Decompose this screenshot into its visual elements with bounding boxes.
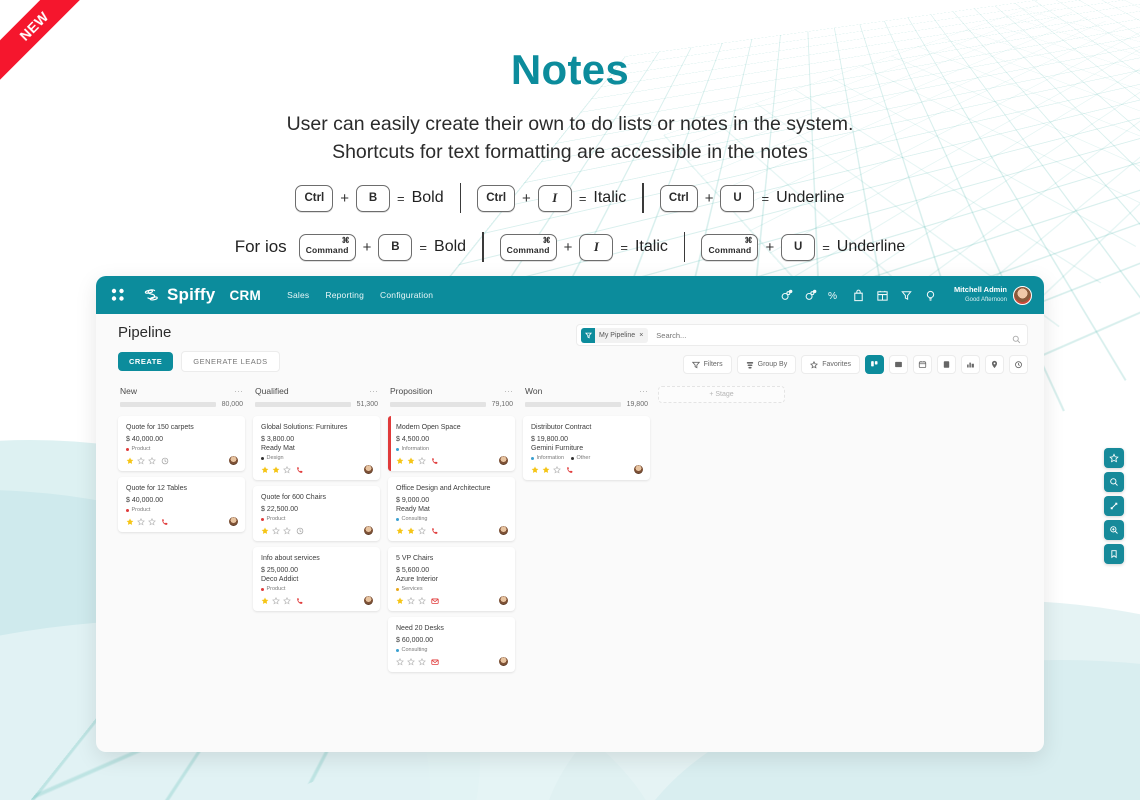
shortcut-divider xyxy=(684,232,686,262)
star-empty-icon[interactable] xyxy=(553,466,561,474)
kanban-card[interactable]: Distributor Contract $ 19,800.00 Gemini … xyxy=(523,416,650,480)
page-title: Notes xyxy=(0,46,1140,94)
zoom-float-icon[interactable] xyxy=(1104,520,1124,540)
plus-sign: + xyxy=(705,190,714,207)
result-underline: Underline xyxy=(776,189,844,207)
plus-sign: + xyxy=(340,190,349,207)
star-empty-icon[interactable] xyxy=(418,658,426,666)
activity-icon[interactable] xyxy=(780,289,793,302)
result-bold: Bold xyxy=(434,238,466,256)
navbar-right: % Mitchell Admin Good Afternoon xyxy=(780,285,1032,305)
view-controls: Filters Group By Favorites xyxy=(576,355,1028,374)
column-settings-icon[interactable]: ⋯ xyxy=(639,388,648,394)
avatar[interactable] xyxy=(229,456,238,465)
tag-dot xyxy=(571,457,574,460)
user-name: Mitchell Admin xyxy=(954,285,1007,294)
plus-sign: + xyxy=(765,239,774,256)
shortcut-underline-windows: Ctrl + U = Underline xyxy=(660,185,845,212)
user-menu[interactable]: Mitchell Admin Good Afternoon xyxy=(954,285,1032,305)
key-u: U xyxy=(781,234,815,261)
card-title: Quote for 12 Tables xyxy=(126,484,238,494)
column-cards: Global Solutions: Furnitures $ 3,800.00 … xyxy=(253,416,380,611)
avatar[interactable] xyxy=(499,657,508,666)
command-symbol: ⌘ xyxy=(543,236,551,245)
spiffy-logo-icon xyxy=(142,286,161,305)
card-tags: Design xyxy=(261,455,373,461)
card-tags: Consulting xyxy=(396,516,508,522)
card-footer xyxy=(396,526,508,535)
tag-label: Product xyxy=(132,507,151,513)
star-filled-icon[interactable] xyxy=(531,466,539,474)
card-customer: Ready Mat xyxy=(261,445,373,452)
plus-sign: + xyxy=(522,190,531,207)
command-label: Command xyxy=(507,245,550,255)
card-tag: Consulting xyxy=(396,516,428,522)
kanban-card[interactable]: Quote for 600 Chairs $ 22,500.00 Product xyxy=(253,486,380,541)
card-amount: $ 5,600.00 xyxy=(396,567,508,574)
subtitle-line-2: Shortcuts for text formatting are access… xyxy=(0,138,1140,166)
card-footer xyxy=(396,657,508,666)
card-tags: Product xyxy=(261,516,373,522)
search-facet-remove[interactable]: × xyxy=(639,332,643,339)
card-tag: Product xyxy=(261,516,285,522)
expand-float-icon[interactable] xyxy=(1104,496,1124,516)
card-tag: Design xyxy=(261,455,284,461)
card-amount: $ 3,800.00 xyxy=(261,436,373,443)
star-filled-icon[interactable] xyxy=(272,466,280,474)
shortcut-underline-ios: ⌘ Command + U = Underline xyxy=(701,234,905,261)
equals-sign: = xyxy=(822,240,830,255)
star-filled-icon[interactable] xyxy=(396,527,404,535)
avatar[interactable] xyxy=(499,456,508,465)
star-empty-icon[interactable] xyxy=(283,527,291,535)
favorites-button[interactable]: Favorites xyxy=(801,355,860,374)
tag-dot xyxy=(261,457,264,460)
column-settings-icon[interactable]: ⋯ xyxy=(369,388,378,394)
shortcut-divider xyxy=(642,183,644,213)
tag-dot xyxy=(531,457,534,460)
search-bar[interactable]: My Pipeline × xyxy=(576,324,1028,346)
tag-dot xyxy=(261,588,264,591)
key-ctrl: Ctrl xyxy=(660,185,698,212)
phone-icon[interactable] xyxy=(296,466,304,474)
card-footer xyxy=(531,465,643,474)
card-footer xyxy=(261,465,373,474)
card-title: 5 VP Chairs xyxy=(396,554,508,564)
card-amount: $ 25,000.00 xyxy=(261,567,373,574)
star-empty-icon[interactable] xyxy=(137,518,145,526)
create-button[interactable]: CREATE xyxy=(118,352,173,371)
card-title: Distributor Contract xyxy=(531,423,643,433)
phone-icon[interactable] xyxy=(161,518,169,526)
ios-label: For ios xyxy=(235,237,287,257)
group-by-button[interactable]: Group By xyxy=(737,355,797,374)
kanban-view-icon[interactable] xyxy=(865,355,884,374)
key-ctrl: Ctrl xyxy=(295,185,333,212)
kanban-board: New ⋯ 80,000 Quote for 150 carpets $ 40,… xyxy=(96,372,1044,672)
tag-label: Consulting xyxy=(402,516,428,522)
star-empty-icon[interactable] xyxy=(272,597,280,605)
kanban-card[interactable]: Quote for 12 Tables $ 40,000.00 Product xyxy=(118,477,245,532)
list-view-icon[interactable] xyxy=(889,355,908,374)
star-filled-icon[interactable] xyxy=(407,527,415,535)
kanban-column-won: Won ⋯ 19,800 Distributor Contract $ 19,8… xyxy=(523,386,650,480)
key-i: I xyxy=(538,185,572,212)
card-tag: Services xyxy=(396,586,423,592)
brand-logo[interactable]: Spiffy xyxy=(142,285,215,305)
star-filled-icon[interactable] xyxy=(126,457,134,465)
kanban-column-proposition: Proposition ⋯ 79,100 Modern Open Space $… xyxy=(388,386,515,672)
tag-dot xyxy=(261,518,264,521)
card-title: Modern Open Space xyxy=(396,423,508,433)
card-footer xyxy=(396,456,508,465)
card-customer: Ready Mat xyxy=(396,506,508,513)
translate-icon[interactable]: % xyxy=(828,289,841,302)
star-empty-icon[interactable] xyxy=(407,658,415,666)
nav-item-sales[interactable]: Sales xyxy=(287,290,309,300)
star-empty-icon[interactable] xyxy=(283,597,291,605)
column-settings-icon[interactable]: ⋯ xyxy=(234,388,243,394)
shortcut-divider xyxy=(482,232,484,262)
card-title: Need 20 Desks xyxy=(396,624,508,634)
tag-label: Product xyxy=(267,516,286,522)
star-filled-icon[interactable] xyxy=(261,527,269,535)
search-facet-label: My Pipeline xyxy=(599,332,635,339)
filter-funnel-icon[interactable] xyxy=(900,289,913,302)
card-tag: Information xyxy=(396,446,429,452)
card-tags: Product xyxy=(261,586,373,592)
column-amount: 80,000 xyxy=(222,401,243,408)
star-empty-icon[interactable] xyxy=(283,466,291,474)
equals-sign: = xyxy=(397,191,405,206)
column-progress-track xyxy=(120,402,216,407)
nav-item-reporting[interactable]: Reporting xyxy=(325,290,364,300)
key-b: B xyxy=(378,234,412,261)
kanban-card[interactable]: Info about services $ 25,000.00 Deco Add… xyxy=(253,547,380,611)
star-empty-icon[interactable] xyxy=(272,527,280,535)
tag-dot xyxy=(126,509,129,512)
equals-sign: = xyxy=(579,191,587,206)
filters-button[interactable]: Filters xyxy=(683,355,732,374)
star-filled-icon[interactable] xyxy=(126,518,134,526)
avatar[interactable] xyxy=(364,465,373,474)
star-float-icon[interactable] xyxy=(1104,448,1124,468)
column-amount: 51,300 xyxy=(357,401,378,408)
card-tags: Services xyxy=(396,586,508,592)
control-bar: Pipeline CREATE GENERATE LEADS My Pipeli… xyxy=(96,314,1044,372)
plus-sign: + xyxy=(564,239,573,256)
activity-view-icon[interactable] xyxy=(1009,355,1028,374)
phone-icon[interactable] xyxy=(431,527,439,535)
filter-icon xyxy=(692,361,700,369)
navbar-menu: Sales Reporting Configuration xyxy=(287,290,433,300)
search-facet-my-pipeline[interactable]: My Pipeline × xyxy=(581,328,648,343)
column-name: Qualified xyxy=(255,386,289,396)
svg-text:%: % xyxy=(828,291,837,302)
card-tags: Consulting xyxy=(396,647,508,653)
star-empty-icon[interactable] xyxy=(396,658,404,666)
column-progress-track xyxy=(525,402,621,407)
card-customer: Gemini Furniture xyxy=(531,445,643,452)
tag-dot xyxy=(126,448,129,451)
equals-sign: = xyxy=(620,240,628,255)
command-symbol: ⌘ xyxy=(744,236,752,245)
card-footer xyxy=(261,596,373,605)
generate-leads-button[interactable]: GENERATE LEADS xyxy=(181,351,279,372)
clock-icon[interactable] xyxy=(296,527,304,535)
card-tags: Information xyxy=(396,446,508,452)
result-bold: Bold xyxy=(412,189,444,207)
group-icon xyxy=(746,361,754,369)
kanban-card[interactable]: Global Solutions: Furnitures $ 3,800.00 … xyxy=(253,416,380,480)
card-tags: Product xyxy=(126,446,238,452)
search-input[interactable] xyxy=(656,331,1012,340)
calendar-view-icon[interactable] xyxy=(913,355,932,374)
equals-sign: = xyxy=(761,191,769,206)
avatar[interactable] xyxy=(499,526,508,535)
column-header: Won ⋯ 19,800 xyxy=(523,386,650,408)
equals-sign: = xyxy=(419,240,427,255)
kanban-card[interactable]: 5 VP Chairs $ 5,600.00 Azure Interior Se… xyxy=(388,547,515,611)
star-filled-icon[interactable] xyxy=(396,597,404,605)
kanban-column-new: New ⋯ 80,000 Quote for 150 carpets $ 40,… xyxy=(118,386,245,532)
search-area: My Pipeline × Filters Group By xyxy=(576,324,1028,374)
filter-icon xyxy=(581,328,595,343)
star-filled-icon[interactable] xyxy=(407,457,415,465)
tag-label: Product xyxy=(267,586,286,592)
card-title: Quote for 600 Chairs xyxy=(261,493,373,503)
card-customer: Azure Interior xyxy=(396,576,508,583)
kanban-card[interactable]: Quote for 150 carpets $ 40,000.00 Produc… xyxy=(118,416,245,471)
shortcut-italic-ios: ⌘ Command + I = Italic xyxy=(500,234,668,261)
mail-icon[interactable] xyxy=(431,658,439,666)
command-symbol: ⌘ xyxy=(342,236,350,245)
mail-icon[interactable] xyxy=(431,597,439,605)
star-empty-icon[interactable] xyxy=(148,518,156,526)
map-view-icon[interactable] xyxy=(985,355,1004,374)
star-empty-icon[interactable] xyxy=(148,457,156,465)
column-cards: Distributor Contract $ 19,800.00 Gemini … xyxy=(523,416,650,480)
column-settings-icon[interactable]: ⋯ xyxy=(504,388,513,394)
result-underline: Underline xyxy=(837,238,905,256)
calendar-grid-icon[interactable] xyxy=(876,289,889,302)
card-footer xyxy=(396,596,508,605)
key-command: ⌘ Command xyxy=(701,234,758,261)
kanban-card[interactable]: Need 20 Desks $ 60,000.00 Consulting xyxy=(388,617,515,672)
user-avatar[interactable] xyxy=(1013,286,1032,305)
messages-icon[interactable] xyxy=(804,289,817,302)
phone-icon[interactable] xyxy=(566,466,574,474)
plus-sign: + xyxy=(363,239,372,256)
phone-icon[interactable] xyxy=(431,457,439,465)
current-app-label: CRM xyxy=(229,288,261,303)
magnifier-icon[interactable] xyxy=(1012,331,1021,340)
shortcut-row-windows: Ctrl + B = Bold Ctrl + I = Italic Ctrl +… xyxy=(0,183,1140,213)
avatar[interactable] xyxy=(634,465,643,474)
star-filled-icon[interactable] xyxy=(542,466,550,474)
key-command: ⌘ Command xyxy=(299,234,356,261)
card-amount: $ 40,000.00 xyxy=(126,497,238,504)
command-label: Command xyxy=(708,245,751,255)
key-ctrl: Ctrl xyxy=(477,185,515,212)
result-italic: Italic xyxy=(635,238,668,256)
column-progress-track xyxy=(255,402,351,407)
tag-label: Other xyxy=(577,455,591,461)
tag-dot xyxy=(396,448,399,451)
kanban-card[interactable]: Office Design and Architecture $ 9,000.0… xyxy=(388,477,515,541)
card-title: Info about services xyxy=(261,554,373,564)
shopping-bag-icon[interactable] xyxy=(852,289,865,302)
shortcut-bold-windows: Ctrl + B = Bold xyxy=(295,185,443,212)
card-amount: $ 40,000.00 xyxy=(126,436,238,443)
star-empty-icon[interactable] xyxy=(137,457,145,465)
tag-label: Product xyxy=(132,446,151,452)
nav-item-configuration[interactable]: Configuration xyxy=(380,290,433,300)
card-amount: $ 9,000.00 xyxy=(396,497,508,504)
result-italic: Italic xyxy=(593,189,626,207)
card-title: Global Solutions: Furnitures xyxy=(261,423,373,433)
card-tag: Product xyxy=(261,586,285,592)
clock-icon[interactable] xyxy=(161,457,169,465)
card-amount: $ 60,000.00 xyxy=(396,637,508,644)
app-navbar: Spiffy CRM Sales Reporting Configuration… xyxy=(96,276,1044,314)
group-by-label: Group By xyxy=(758,361,788,368)
star-empty-icon[interactable] xyxy=(407,597,415,605)
page-subtitle: User can easily create their own to do l… xyxy=(0,110,1140,166)
avatar[interactable] xyxy=(364,596,373,605)
user-greeting: Good Afternoon xyxy=(954,296,1007,305)
command-label: Command xyxy=(306,245,349,255)
column-name: New xyxy=(120,386,137,396)
tag-dot xyxy=(396,588,399,591)
search-float-icon[interactable] xyxy=(1104,472,1124,492)
card-tag: Consulting xyxy=(396,647,428,653)
add-stage-button[interactable]: + Stage xyxy=(658,386,785,403)
kanban-card[interactable]: Modern Open Space $ 4,500.00 Information xyxy=(388,416,515,471)
kanban-column-qualified: Qualified ⋯ 51,300 Global Solutions: Fur… xyxy=(253,386,380,611)
card-footer xyxy=(126,456,238,465)
card-tags: Product xyxy=(126,507,238,513)
card-title: Quote for 150 carpets xyxy=(126,423,238,433)
tag-label: Design xyxy=(267,455,284,461)
key-command: ⌘ Command xyxy=(500,234,557,261)
card-title: Office Design and Architecture xyxy=(396,484,508,494)
user-text: Mitchell Admin Good Afternoon xyxy=(954,285,1007,305)
brand-name: Spiffy xyxy=(167,285,215,305)
tag-label: Information xyxy=(402,446,430,452)
column-header: Proposition ⋯ 79,100 xyxy=(388,386,515,408)
card-tag: Product xyxy=(126,446,150,452)
bookmark-float-icon[interactable] xyxy=(1104,544,1124,564)
key-u: U xyxy=(720,185,754,212)
card-tag: Product xyxy=(126,507,150,513)
column-amount: 19,800 xyxy=(627,401,648,408)
card-tags: Information Other xyxy=(531,455,643,461)
favorites-label: Favorites xyxy=(822,361,851,368)
column-cards: Modern Open Space $ 4,500.00 Information xyxy=(388,416,515,672)
pivot-view-icon[interactable] xyxy=(937,355,956,374)
card-amount: $ 19,800.00 xyxy=(531,436,643,443)
tag-label: Consulting xyxy=(402,647,428,653)
avatar[interactable] xyxy=(229,517,238,526)
graph-view-icon[interactable] xyxy=(961,355,980,374)
column-cards: Quote for 150 carpets $ 40,000.00 Produc… xyxy=(118,416,245,532)
shortcut-row-ios: For ios ⌘ Command + B = Bold ⌘ Command +… xyxy=(0,232,1140,262)
column-progress-track xyxy=(390,402,486,407)
star-icon xyxy=(810,361,818,369)
app-window: Spiffy CRM Sales Reporting Configuration… xyxy=(96,276,1044,752)
column-amount: 79,100 xyxy=(492,401,513,408)
card-tag: Other xyxy=(571,455,590,461)
column-name: Won xyxy=(525,386,542,396)
star-empty-icon[interactable] xyxy=(418,457,426,465)
tag-label: Information xyxy=(537,455,565,461)
page-root: NEW Notes User can easily create their o… xyxy=(0,0,1140,800)
subtitle-line-1: User can easily create their own to do l… xyxy=(0,110,1140,138)
avatar[interactable] xyxy=(364,526,373,535)
phone-icon[interactable] xyxy=(296,597,304,605)
shortcut-divider xyxy=(460,183,462,213)
star-empty-icon[interactable] xyxy=(418,527,426,535)
card-tag: Information xyxy=(531,455,564,461)
floating-toolbar xyxy=(1104,448,1124,564)
column-header: New ⋯ 80,000 xyxy=(118,386,245,408)
star-filled-icon[interactable] xyxy=(261,597,269,605)
key-b: B xyxy=(356,185,390,212)
card-amount: $ 22,500.00 xyxy=(261,506,373,513)
tag-dot xyxy=(396,518,399,521)
star-empty-icon[interactable] xyxy=(418,597,426,605)
card-footer xyxy=(126,517,238,526)
shortcut-bold-ios: ⌘ Command + B = Bold xyxy=(299,234,466,261)
card-amount: $ 4,500.00 xyxy=(396,436,508,443)
new-badge-label: NEW xyxy=(16,8,51,43)
column-header: Qualified ⋯ 51,300 xyxy=(253,386,380,408)
tag-dot xyxy=(396,649,399,652)
avatar[interactable] xyxy=(499,596,508,605)
lightbulb-icon[interactable] xyxy=(924,289,937,302)
apps-grid-icon[interactable] xyxy=(110,287,126,303)
card-footer xyxy=(261,526,373,535)
card-customer: Deco Addict xyxy=(261,576,373,583)
star-filled-icon[interactable] xyxy=(396,457,404,465)
star-filled-icon[interactable] xyxy=(261,466,269,474)
tag-label: Services xyxy=(402,586,423,592)
column-name: Proposition xyxy=(390,386,433,396)
key-i: I xyxy=(579,234,613,261)
shortcut-italic-windows: Ctrl + I = Italic xyxy=(477,185,626,212)
filters-label: Filters xyxy=(704,361,723,368)
